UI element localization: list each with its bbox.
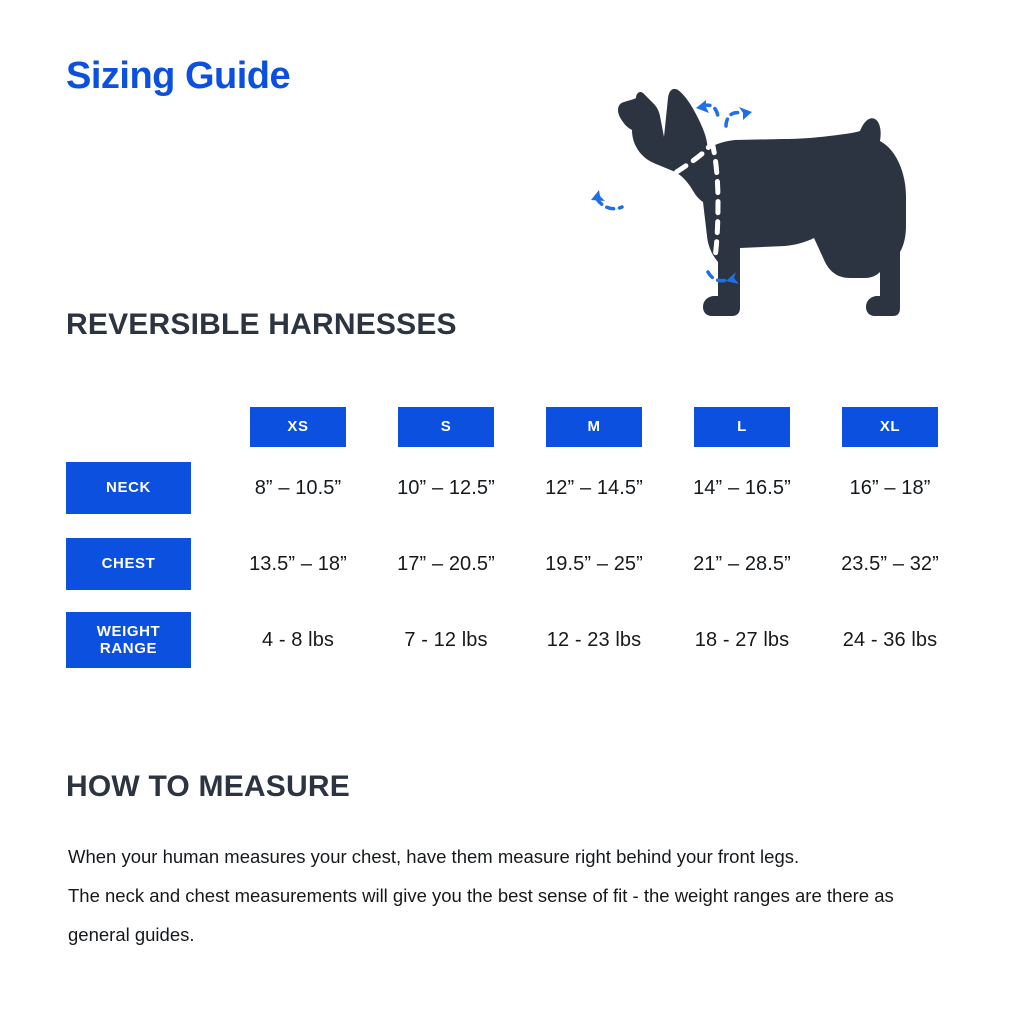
column-header-m-label: M [546, 407, 642, 447]
dog-body-shape [618, 89, 906, 316]
column-header-s: S [372, 404, 520, 450]
chest-value-l: 21” – 28.5” [668, 526, 816, 602]
column-header-s-label: S [398, 407, 494, 447]
column-header-xs-label: XS [250, 407, 346, 447]
weight-value-xl: 24 - 36 lbs [816, 602, 964, 678]
how-to-measure-body: When your human measures your chest, hav… [68, 838, 958, 955]
column-header-xl-label: XL [842, 407, 938, 447]
table-row-chest: CHEST 13.5” – 18” 17” – 20.5” 19.5” – 25… [64, 526, 964, 602]
row-label-weight-range-line2: RANGE [100, 640, 157, 657]
chest-value-xl: 23.5” – 32” [816, 526, 964, 602]
weight-value-s: 7 - 12 lbs [372, 602, 520, 678]
harness-section-heading: REVERSIBLE HARNESSES [66, 308, 457, 341]
weight-value-xs: 4 - 8 lbs [224, 602, 372, 678]
row-label-weight-range: WEIGHT RANGE [66, 612, 191, 668]
row-label-cell-neck: NECK [64, 450, 224, 526]
column-header-l: L [668, 404, 816, 450]
how-to-measure-paragraph-2: The neck and chest measurements will giv… [68, 877, 958, 955]
chest-value-s: 17” – 20.5” [372, 526, 520, 602]
sizing-guide-page: Sizing Guide [0, 0, 1024, 1024]
row-label-cell-chest: CHEST [64, 526, 224, 602]
neck-value-xs: 8” – 10.5” [224, 450, 372, 526]
page-title: Sizing Guide [66, 56, 290, 98]
how-to-measure-heading: HOW TO MEASURE [66, 770, 350, 803]
table-row-weight-range: WEIGHT RANGE 4 - 8 lbs 7 - 12 lbs 12 - 2… [64, 602, 964, 678]
neck-value-m: 12” – 14.5” [520, 450, 668, 526]
neck-arrow-lower-left [591, 190, 622, 209]
row-label-cell-weight-range: WEIGHT RANGE [64, 602, 224, 678]
neck-value-l: 14” – 16.5” [668, 450, 816, 526]
size-chart: XS S M L XL [64, 404, 964, 678]
weight-value-m: 12 - 23 lbs [520, 602, 668, 678]
row-label-weight-range-line1: WEIGHT [97, 623, 161, 640]
chest-value-m: 19.5” – 25” [520, 526, 668, 602]
dog-silhouette-svg [540, 40, 970, 370]
column-header-xs: XS [224, 404, 372, 450]
row-label-neck: NECK [66, 462, 191, 514]
column-header-l-label: L [694, 407, 790, 447]
how-to-measure-paragraph-1: When your human measures your chest, hav… [68, 838, 958, 877]
table-row-neck: NECK 8” – 10.5” 10” – 12.5” 12” – 14.5” … [64, 450, 964, 526]
size-chart-header-row: XS S M L XL [64, 404, 964, 450]
weight-value-l: 18 - 27 lbs [668, 602, 816, 678]
column-header-m: M [520, 404, 668, 450]
size-chart-table: XS S M L XL [64, 404, 964, 678]
neck-arrow-upper-right [726, 107, 752, 126]
neck-value-s: 10” – 12.5” [372, 450, 520, 526]
dog-harness-measurement-diagram [540, 40, 970, 370]
chest-value-xs: 13.5” – 18” [224, 526, 372, 602]
header-corner-spacer [64, 404, 224, 450]
row-label-chest: CHEST [66, 538, 191, 590]
neck-arrow-upper-left [696, 100, 718, 117]
neck-value-xl: 16” – 18” [816, 450, 964, 526]
column-header-xl: XL [816, 404, 964, 450]
